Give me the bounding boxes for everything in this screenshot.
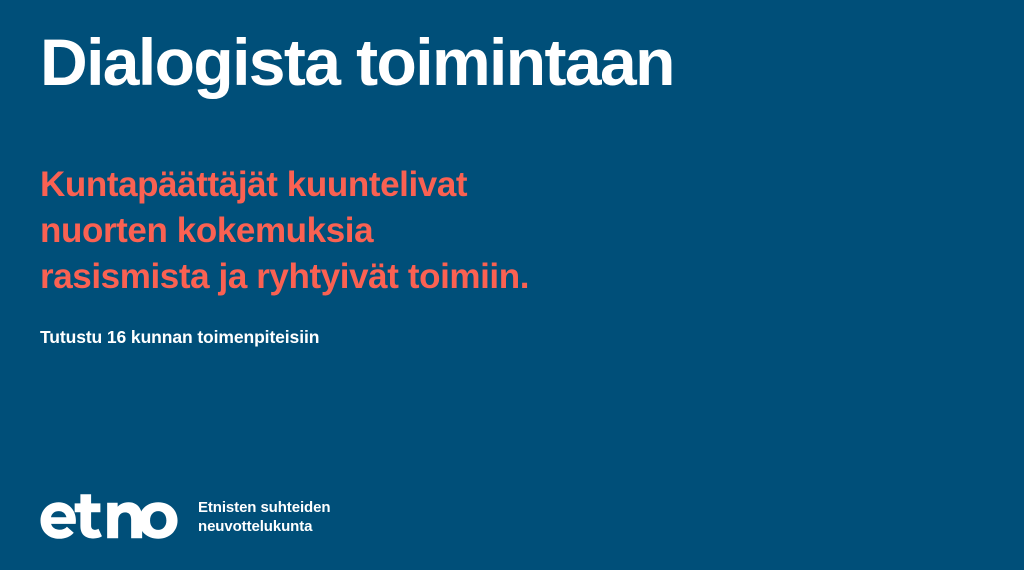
poster-canvas: Dialogista toimintaan Kuntapäättäjät kuu… [0, 0, 1024, 570]
subheadline-line-1: Kuntapäättäjät kuuntelivat [40, 162, 740, 208]
etno-tagline-line-2: neuvottelukunta [198, 517, 330, 536]
subheadline-line-2: nuorten kokemuksia [40, 208, 740, 254]
subheadline-line-3: rasismista ja ryhtyivät toimiin. [40, 254, 740, 300]
page-title: Dialogista toimintaan [40, 28, 970, 98]
etno-tagline-line-1: Etnisten suhteiden [198, 498, 330, 517]
etno-logo-lockup: Etnisten suhteiden neuvottelukunta [38, 488, 330, 544]
subheadline: Kuntapäättäjät kuuntelivat nuorten kokem… [40, 162, 740, 300]
caption-text: Tutustu 16 kunnan toimenpiteisiin [40, 327, 319, 348]
etno-wordmark-icon [38, 488, 178, 544]
etno-tagline: Etnisten suhteiden neuvottelukunta [198, 496, 330, 536]
